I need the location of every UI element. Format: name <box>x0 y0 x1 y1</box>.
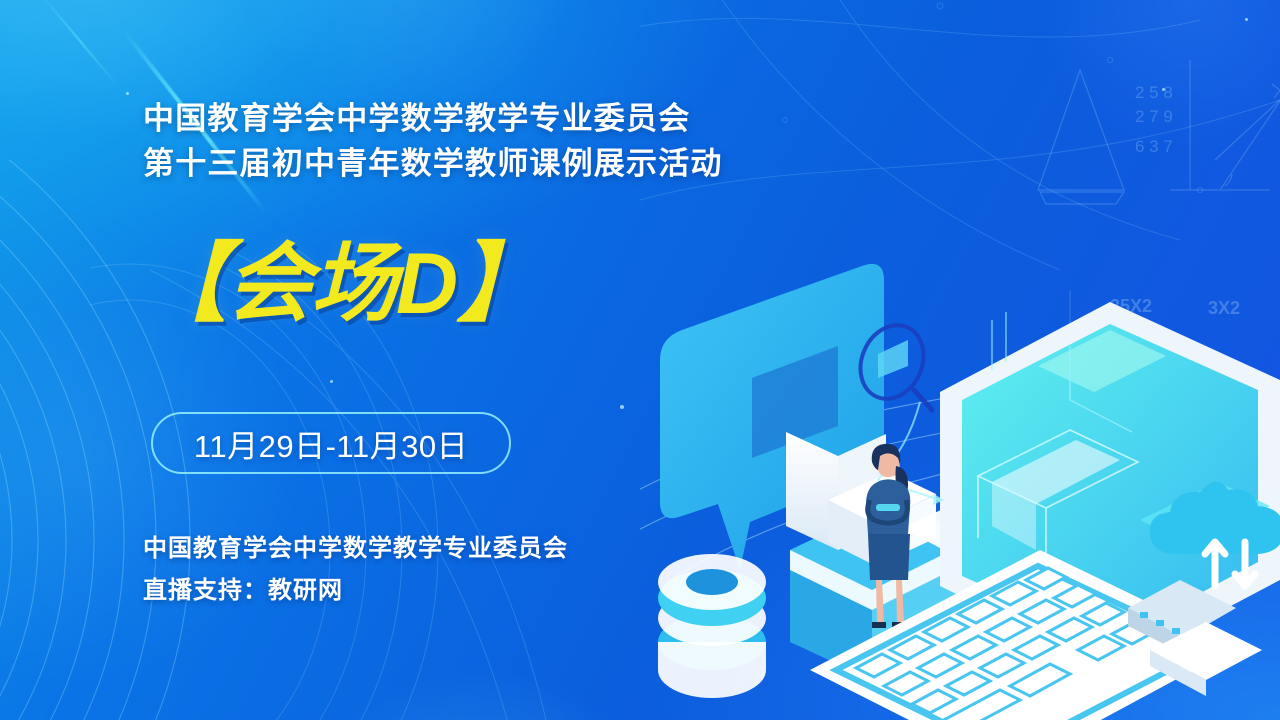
footer-line-1: 中国教育学会中学数学教学专业委员会 <box>143 528 568 570</box>
glow-blob-top-right <box>980 0 1280 210</box>
heading-line-1: 中国教育学会中学数学教学专业委员会 <box>143 96 723 141</box>
heading-line-2: 第十三届初中青年数学教师课例展示活动 <box>143 141 723 186</box>
date-badge: 11月29日-11月30日 <box>151 412 511 474</box>
poster-canvas: 2 5 8 2 7 9 6 3 7 35X2 3X2 +C3+C3+C3 <box>0 0 1280 720</box>
decor-digits-row3: 6 3 7 <box>1135 137 1173 156</box>
footer-credits: 中国教育学会中学数学教学专业委员会 直播支持：教研网 <box>143 528 568 612</box>
footer-line-2: 直播支持：教研网 <box>143 570 568 612</box>
event-heading: 中国教育学会中学数学教学专业委员会 第十三届初中青年数学教师课例展示活动 <box>143 96 723 186</box>
date-badge-label: 11月29日-11月30日 <box>194 421 468 466</box>
decor-digits-row1: 2 5 8 <box>1135 83 1173 102</box>
page-title: 【会场D】 <box>141 236 542 332</box>
light-streak-small-icon <box>41 0 120 88</box>
decor-digits-row2: 2 7 9 <box>1135 107 1173 126</box>
text-column: 中国教育学会中学数学教学专业委员会 第十三届初中青年数学教师课例展示活动 【会场… <box>143 0 783 720</box>
